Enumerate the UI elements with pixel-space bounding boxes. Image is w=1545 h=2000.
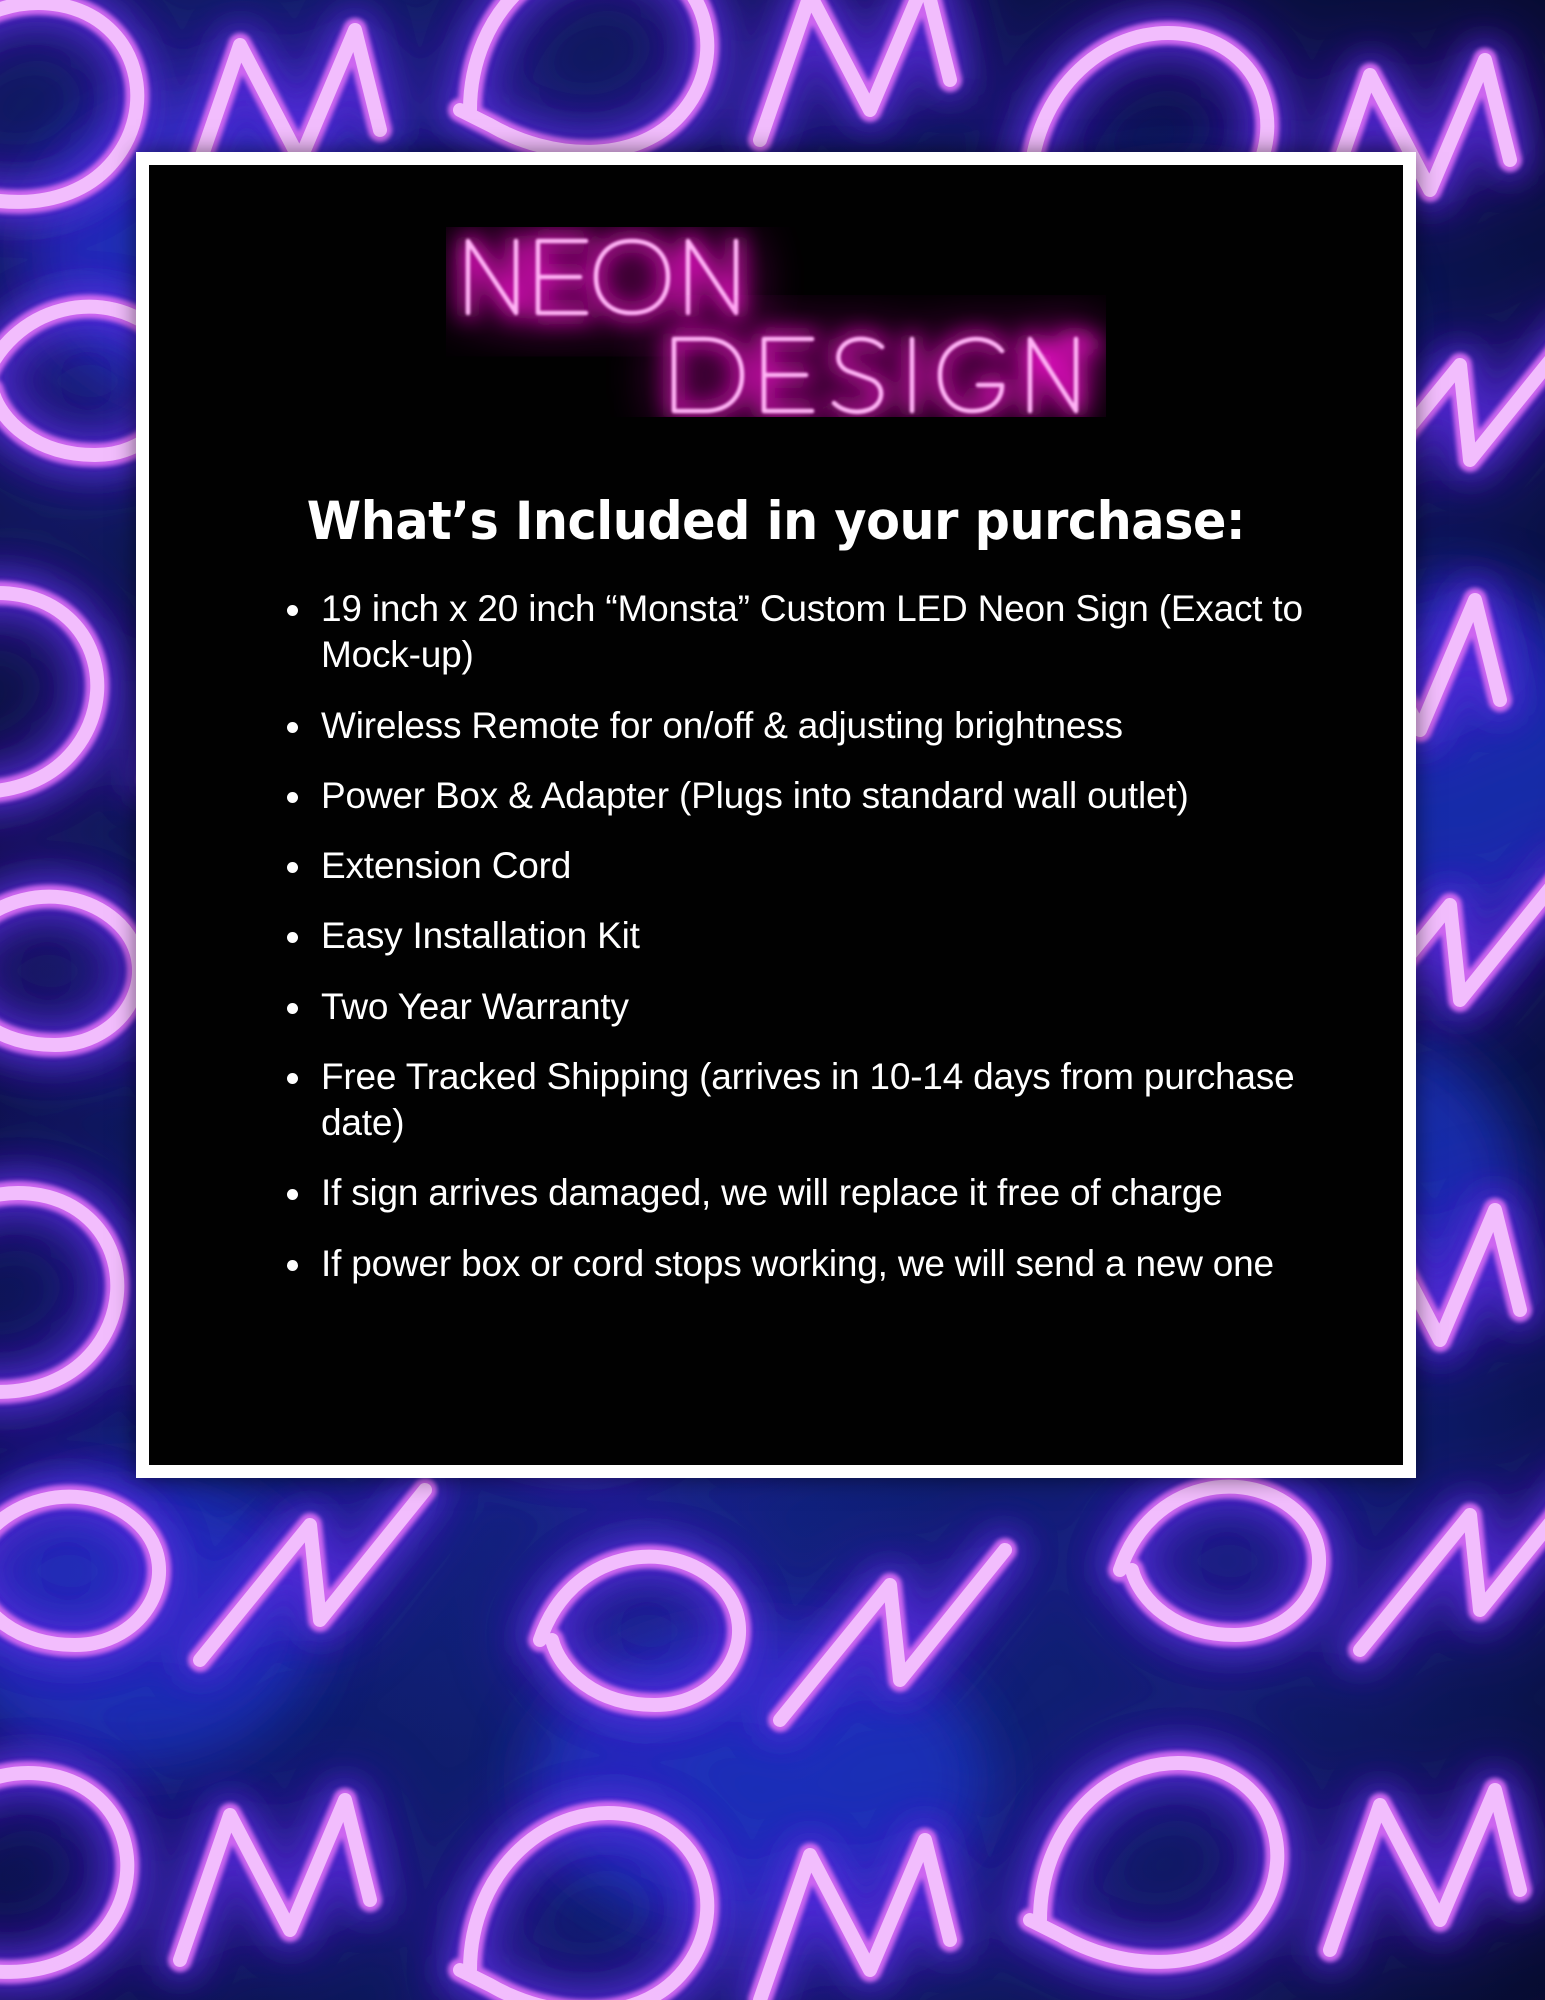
white-framed-card: What’s Included in your purchase: 19 inc…: [136, 152, 1416, 1478]
list-item: Free Tracked Shipping (arrives in 10-14 …: [285, 1054, 1341, 1147]
list-item: Wireless Remote for on/off & adjusting b…: [285, 703, 1341, 749]
neon-designs-logo: [149, 227, 1403, 447]
neon-logo-icon: [446, 227, 1106, 417]
poster-page: What’s Included in your purchase: 19 inc…: [0, 0, 1545, 2000]
card-content-area: What’s Included in your purchase: 19 inc…: [149, 165, 1403, 1465]
logo-text-designs: [674, 339, 1096, 412]
list-item: Easy Installation Kit: [285, 913, 1341, 959]
list-item: 19 inch x 20 inch “Monsta” Custom LED Ne…: [285, 586, 1341, 679]
list-item: Extension Cord: [285, 843, 1341, 889]
page-title: What’s Included in your purchase:: [193, 491, 1359, 552]
list-item: If sign arrives damaged, we will replace…: [285, 1170, 1341, 1216]
list-item: Two Year Warranty: [285, 984, 1341, 1030]
logo-text-neon: [468, 241, 736, 313]
included-items-list: 19 inch x 20 inch “Monsta” Custom LED Ne…: [149, 586, 1403, 1287]
list-item: Power Box & Adapter (Plugs into standard…: [285, 773, 1341, 819]
list-item: If power box or cord stops working, we w…: [285, 1241, 1341, 1287]
